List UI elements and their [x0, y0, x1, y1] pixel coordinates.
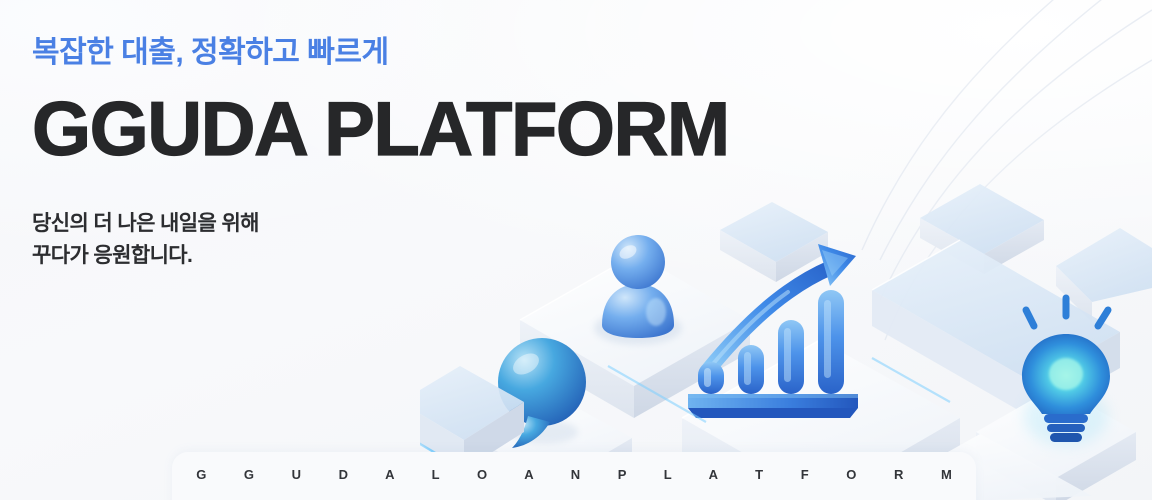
subtitle-line2-part2: 합니다.	[131, 244, 192, 267]
bar-chart-bar	[818, 290, 844, 394]
bar-chart-bar	[778, 320, 804, 394]
subtitle-line2-bold: 응원	[93, 244, 130, 267]
hero-tagline: 복잡한 대출, 정확하고 빠르게	[32, 34, 592, 72]
isometric-illustration	[420, 170, 1152, 500]
page-title: GGUDA PLATFORM	[32, 92, 592, 168]
subtitle-line2-part1: 꾸다가	[32, 244, 93, 267]
subtitle-line1-bold: 더 나은 내일을	[93, 212, 216, 235]
bar-chart-bar	[698, 362, 724, 394]
ribbon-label: G G U D A L O A N P L A T F O R M	[172, 467, 976, 482]
subtitle-line1-part1: 당신의	[32, 212, 93, 235]
hero-banner: 복잡한 대출, 정확하고 빠르게 GGUDA PLATFORM 당신의 더 나은…	[0, 0, 1152, 500]
bar-chart-bar	[738, 345, 764, 394]
bottom-ribbon-card: G G U D A L O A N P L A T F O R M	[172, 452, 976, 500]
subtitle-line1-part2: 위해	[216, 212, 259, 235]
